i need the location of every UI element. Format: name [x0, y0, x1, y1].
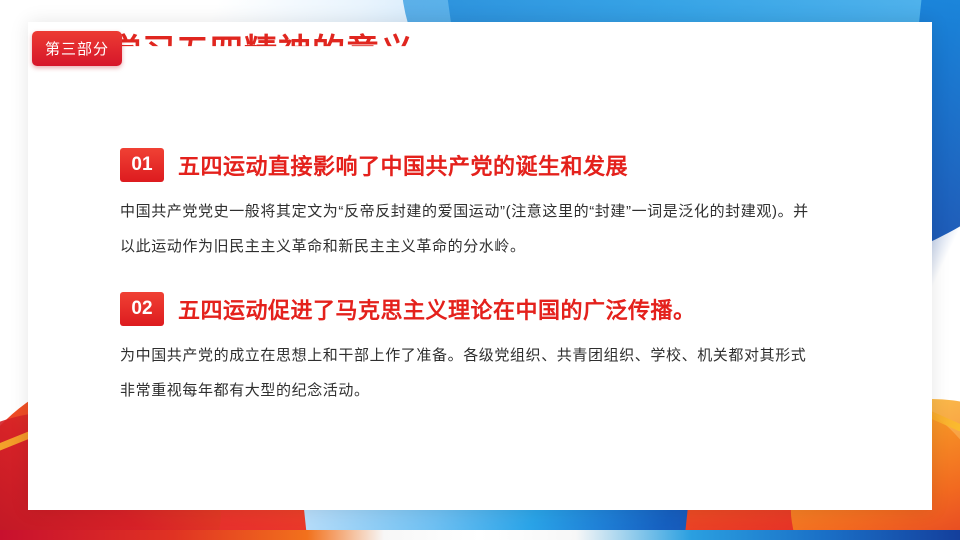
- item-number-badge-02: 02: [120, 292, 164, 326]
- item-header-02: 02 五四运动促进了马克思主义理论在中国的广泛传播。: [120, 292, 820, 326]
- section-badge: 第三部分: [32, 31, 122, 66]
- item-title-02: 五四运动促进了马克思主义理论在中国的广泛传播。: [178, 293, 696, 325]
- content-block-01: 01 五四运动直接影响了中国共产党的诞生和发展 中国共产党党史一般将其定文为“反…: [120, 148, 820, 265]
- content-block-02: 02 五四运动促进了马克思主义理论在中国的广泛传播。 为中国共产党的成立在思想上…: [120, 292, 820, 409]
- item-title-01: 五四运动直接影响了中国共产党的诞生和发展: [178, 149, 628, 181]
- slide-root: 第三部分 学习五四精神的意义 01 五四运动直接影响了中国共产党的诞生和发展 中…: [0, 0, 960, 540]
- item-header-01: 01 五四运动直接影响了中国共产党的诞生和发展: [120, 148, 820, 182]
- item-number-badge-01: 01: [120, 148, 164, 182]
- background-bottom-bar: [0, 530, 960, 540]
- page-title: 学习五四精神的意义: [108, 24, 414, 72]
- item-paragraph-02: 为中国共产党的成立在思想上和干部上作了准备。各级党组织、共青团组织、学校、机关都…: [120, 338, 810, 409]
- item-paragraph-01: 中国共产党党史一般将其定文为“反帝反封建的爱国运动”(注意这里的“封建”一词是泛…: [120, 194, 810, 265]
- slide-heading: 第三部分 学习五四精神的意义: [32, 24, 414, 72]
- content-card: [28, 22, 932, 510]
